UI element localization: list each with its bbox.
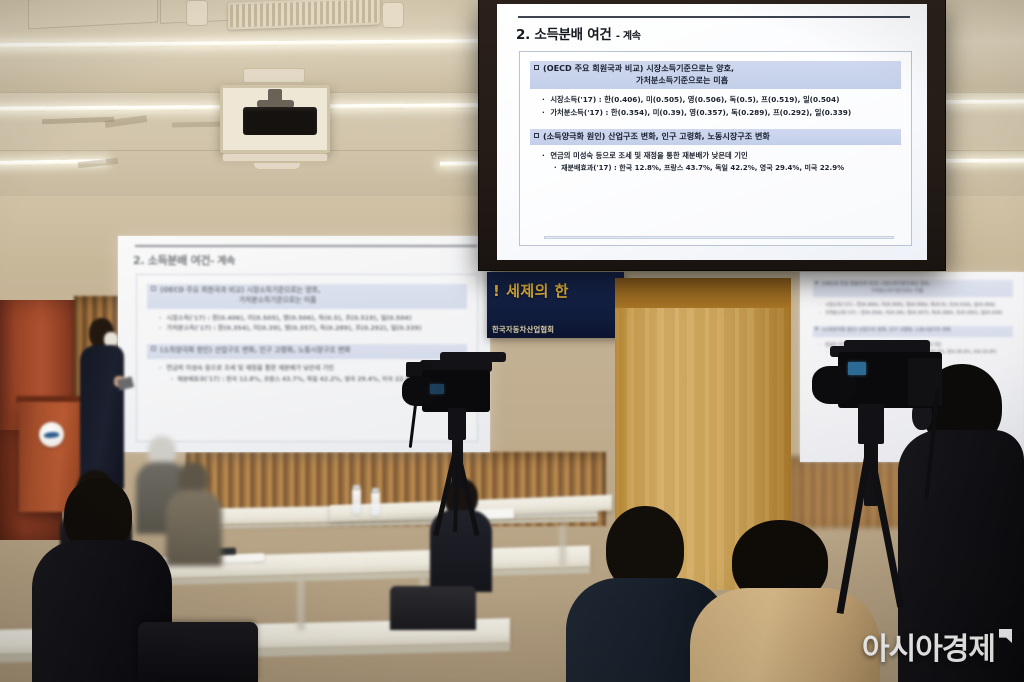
broadcast-tripod-head (858, 404, 884, 444)
section-1-bullet-1: 시장소득('17) : 한(0.406), 미(0.505), 영(0.506)… (542, 94, 901, 107)
left-screen-title: 2. 소득분배 여건 (133, 254, 210, 267)
monitor-screen: 2. 소득분배 여건 - 계속 (OECD 주요 회원국과 비교) 시장소득기준… (497, 4, 927, 260)
section-1-header-text-2: 가처분소득기준으로는 미흡 (636, 75, 728, 85)
slide-title: 2. 소득분배 여건 - 계속 (516, 23, 914, 43)
section-2-bullet-1: 연금의 미성숙 등으로 조세 및 재정을 통한 재분배가 낮은데 기인 (542, 150, 901, 163)
left-s1-b1: 시장소득('17) : 한(0.406), 미(0.505), 영(0.506)… (159, 314, 467, 325)
banner-headline: ! 세제의 한 (493, 280, 569, 301)
presenter (78, 318, 124, 488)
water-bottle-2 (371, 492, 380, 516)
ceiling-projector (243, 107, 317, 135)
checkbox-square-icon (534, 133, 539, 138)
bottle-cap-2 (372, 488, 379, 493)
broadcast-camera-lcd (848, 362, 866, 375)
section-2-header-band: (소득양극화 원인) 산업구조 변화, 인구 고령화, 노동시장구조 변화 (530, 129, 901, 146)
checkbox-square-icon (534, 65, 539, 70)
slide-content-box: (OECD 주요 회원국과 비교) 시장소득기준으로는 양호, 가처분소득기준으… (519, 51, 912, 246)
right-s1-h2: 가처분소득기준으로는 미흡 (871, 289, 923, 294)
section-1-header-text-1: (OECD 주요 회원국과 비교) 시장소득기준으로는 양호, (543, 63, 734, 73)
broadcast-camera-right (812, 336, 992, 616)
presenter-body (80, 345, 124, 490)
presentation-slide: 2. 소득분배 여건 - 계속 (OECD 주요 회원국과 비교) 시장소득기준… (497, 4, 927, 260)
right-s1-b2: 가처분소득('17) : 한(0.354), 미(0.39), 영(0.357)… (819, 310, 1013, 317)
section-1-header-line-2: 가처분소득기준으로는 미흡 (534, 75, 897, 87)
chair-back-2 (390, 586, 476, 630)
chair-back-1 (138, 622, 258, 682)
left-s1-h1: (OECD 주요 회원국과 비교) 시장소득기준으로는 양호, (160, 286, 321, 294)
camera-lcd-screen (430, 384, 444, 394)
video-camera-center (396, 346, 522, 526)
projector-bottom-trim (222, 153, 328, 162)
left-s2-h1: (소득양극화 원인) 산업구조 변화, 인구 고령화, 노동시장구조 변화 (160, 346, 351, 354)
podium-emblem (39, 422, 64, 447)
right-s2-h1: (소득양극화 원인) 산업구조 변화, 인구 고령화, 노동시장구조 변화 (822, 328, 951, 333)
conference-room-scene: 2. 소득분배 여건- 계속 (OECD 주요 회원국과 비교) 시장소득기준으… (0, 0, 1024, 682)
table-leg-3 (560, 523, 565, 567)
water-bottle-1 (352, 489, 361, 514)
section-1-header-line-1: (OECD 주요 회원국과 비교) 시장소득기준으로는 양호, (534, 63, 897, 75)
slide-title-main: 2. 소득분배 여건 (516, 27, 611, 43)
right-s1-b1: 시장소득('17) : 한(0.406), 미(0.505), 영(0.506)… (819, 302, 1013, 309)
section-1-bullets: 시장소득('17) : 한(0.406), 미(0.505), 영(0.506)… (542, 94, 901, 119)
section-2-subbullet-1: 재분배효과('17) : 한국 12.8%, 프랑스 43.7%, 독일 42.… (554, 163, 901, 175)
bottle-cap-1 (353, 485, 360, 490)
watermark-text: 아시아경제 (862, 624, 995, 668)
left-screen-subtitle: - 계속 (210, 256, 235, 267)
projector-mount-plate (243, 68, 305, 83)
broadcast-tripod-leg-1 (837, 445, 873, 614)
slide-scrollbar[interactable] (544, 236, 894, 239)
column-top-trim (615, 278, 791, 309)
slide-top-rule (518, 16, 910, 18)
slide-title-sub: - 계속 (616, 31, 641, 42)
left-s1-h2: 가처분소득기준으로는 미흡 (239, 296, 316, 304)
audience-member-far-2 (166, 462, 222, 562)
projector-lower-plate (253, 162, 301, 170)
watermark-flag-icon (999, 629, 1012, 643)
banner-organization: 한국자동차산업협회 (492, 325, 554, 335)
section-2-bullets: 연금의 미성숙 등으로 조세 및 재정을 통한 재분배가 낮은데 기인 재분배효… (542, 150, 901, 174)
left-s1-b2: 가처분소득('17) : 한(0.354), 미(0.39), 영(0.357)… (159, 324, 467, 335)
right-s1-h1: (OECD 주요 회원국과 비교) 시장소득기준으로는 양호, (822, 282, 930, 287)
wall-mounted-monitor: 2. 소득분배 여건 - 계속 (OECD 주요 회원국과 비교) 시장소득기준… (479, 0, 945, 270)
section-1-header-band: (OECD 주요 회원국과 비교) 시장소득기준으로는 양호, 가처분소득기준으… (530, 61, 901, 89)
watermark: 아시아경제 (862, 624, 1012, 668)
table-leg-1 (298, 578, 304, 630)
section-2-header-text-1: (소득양극화 원인) 산업구조 변화, 인구 고령화, 노동시장구조 변화 (543, 131, 770, 141)
section-2-header-line-1: (소득양극화 원인) 산업구조 변화, 인구 고령화, 노동시장구조 변화 (534, 131, 897, 143)
section-1-bullet-2: 가처분소득('17) : 한(0.354), 미(0.39), 영(0.357)… (542, 107, 901, 120)
event-banner: ! 세제의 한 한국자동차산업협회 (487, 272, 624, 338)
broadcast-tripod-leg-2 (866, 445, 904, 607)
